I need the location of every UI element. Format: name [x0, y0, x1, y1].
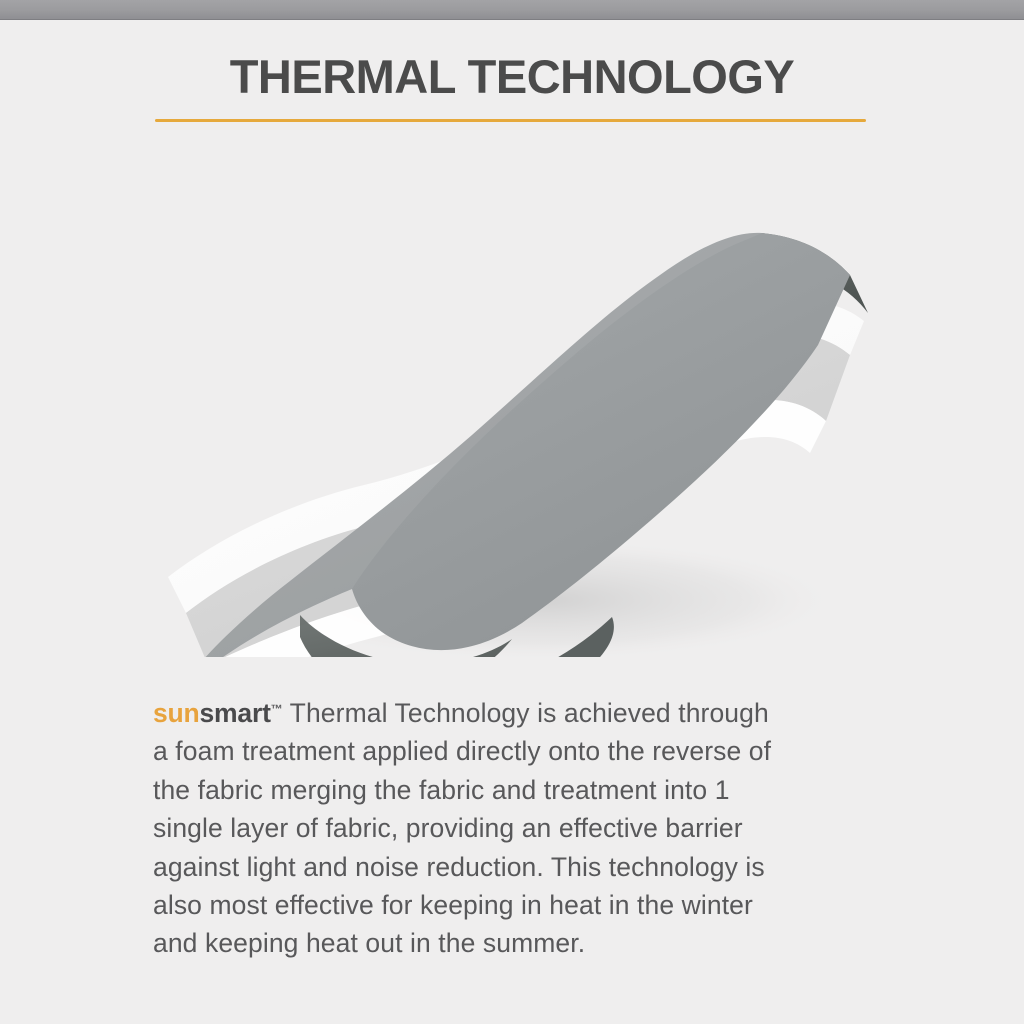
title-divider-rule [155, 119, 866, 122]
trademark-symbol: ™ [271, 702, 283, 716]
thermal-fabric-layers-illustration [150, 185, 874, 657]
top-chrome-band [0, 0, 1024, 20]
sunsmart-brandmark: sunsmart™ [153, 698, 283, 728]
body-line-4: single layer of fabric, providing an eff… [153, 809, 883, 847]
brand-smart-text: smart [200, 698, 271, 728]
body-line-7: and keeping heat out in the summer. [153, 924, 883, 962]
body-line-5: against light and noise reduction. This … [153, 848, 883, 886]
body-copy: sunsmart™ Thermal Technology is achieved… [153, 690, 883, 963]
body-line-1: Thermal Technology is achieved through [283, 698, 769, 728]
body-line-6: also most effective for keeping in heat … [153, 886, 883, 924]
product-feature-panel: THERMAL TECHNOLOGY [0, 0, 1024, 1024]
body-line-2: a foam treatment applied directly onto t… [153, 732, 883, 770]
page-title: THERMAL TECHNOLOGY [0, 50, 1024, 104]
brand-sun-text: sun [153, 698, 200, 728]
body-line-3: the fabric merging the fabric and treatm… [153, 771, 883, 809]
